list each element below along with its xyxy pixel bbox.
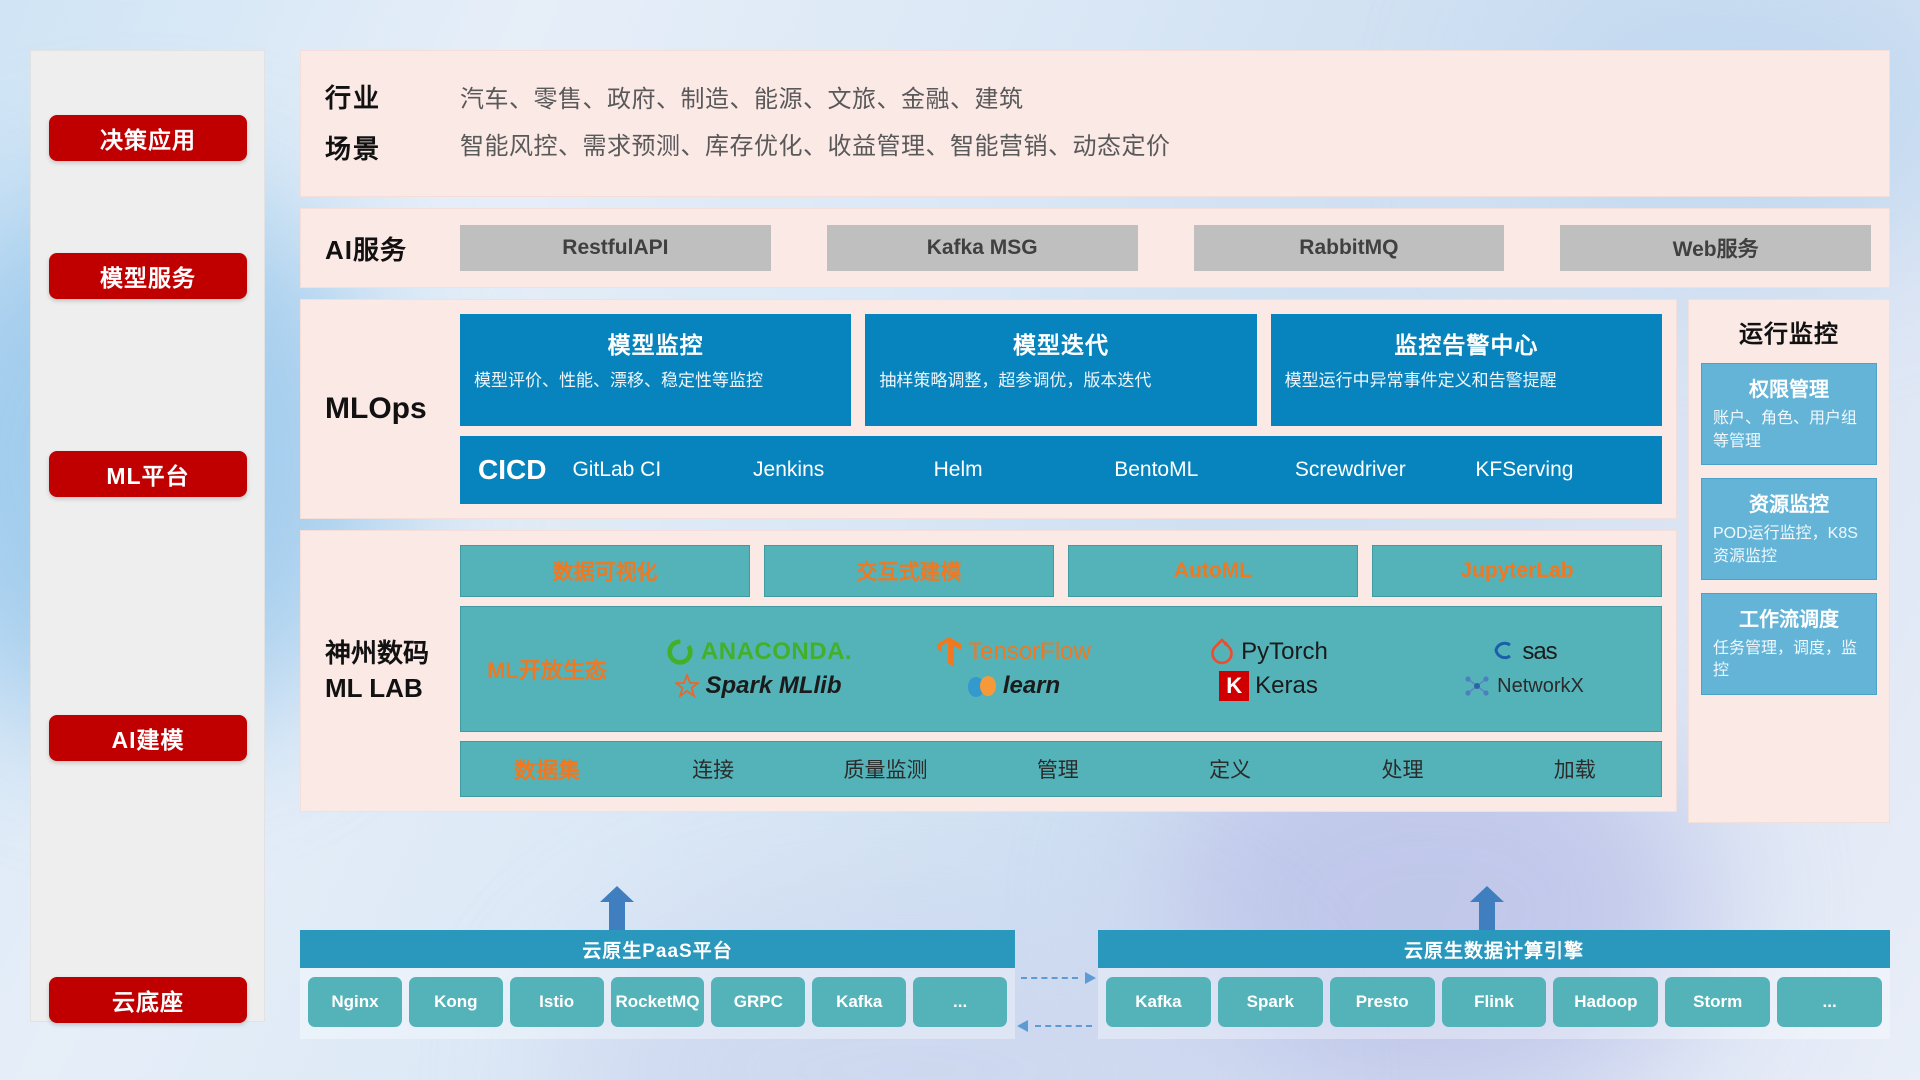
ai-service-label: AI服务	[325, 230, 460, 267]
cloud-data-engine-title: 云原生数据计算引擎	[1098, 930, 1890, 968]
sas-logo: sas	[1490, 638, 1556, 666]
monitoring-card-workflow[interactable]: 工作流调度 任务管理，调度，监控	[1701, 593, 1877, 695]
keras-icon: K	[1219, 671, 1249, 701]
cloud-chip-istio[interactable]: Istio	[510, 977, 604, 1027]
mlops-card-model-iteration[interactable]: 模型迭代 抽样策略调整，超参调优，版本迭代	[865, 314, 1256, 426]
cloud-chip-presto[interactable]: Presto	[1330, 977, 1435, 1027]
mlops-card-title: 模型监控	[474, 326, 837, 360]
ai-service-chip-restfulapi[interactable]: RestfulAPI	[460, 225, 771, 271]
dataset-items: 连接 质量监测 管理 定义 处理 加载	[627, 754, 1661, 784]
cloud-chip-grpc[interactable]: GRPC	[711, 977, 805, 1027]
cloud-chip-flink[interactable]: Flink	[1442, 977, 1547, 1027]
spark-star-icon	[675, 674, 699, 698]
mlops-band: MLOps 模型监控 模型评价、性能、漂移、稳定性等监控 模型迭代 抽样策略调整…	[300, 299, 1677, 519]
anaconda-icon	[665, 637, 695, 667]
dashed-arrow-right-head	[1085, 972, 1096, 984]
ai-service-items: RestfulAPI Kafka MSG RabbitMQ Web服务	[460, 225, 1871, 271]
mlops-card-alert-center[interactable]: 监控告警中心 模型运行中异常事件定义和告警提醒	[1271, 314, 1662, 426]
rail-item-label: 决策应用	[100, 121, 196, 155]
rail-item-cloud-base[interactable]: 云底座	[49, 977, 247, 1023]
dataset-bar: 数据集 连接 质量监测 管理 定义 处理 加载	[460, 741, 1662, 797]
ml-ecosystem-panel: ML开放生态 ANACONDA.	[460, 606, 1662, 732]
cicd-item-screwdriver[interactable]: Screwdriver	[1295, 459, 1476, 481]
networkx-logo: NetworkX	[1463, 673, 1584, 699]
scikit-learn-logo: learn	[967, 672, 1060, 700]
ai-service-chip-rabbitmq[interactable]: RabbitMQ	[1194, 225, 1505, 271]
ml-lab-label: 神州数码 ML LAB	[325, 636, 460, 706]
industry-value: 汽车、零售、政府、制造、能源、文旅、金融、建筑	[460, 77, 1875, 124]
anaconda-logo: ANACONDA.	[665, 637, 852, 667]
cloud-paas-items: Nginx Kong Istio RocketMQ GRPC Kafka ...	[300, 968, 1015, 1039]
mlops-card-desc: 抽样策略调整，超参调优，版本迭代	[879, 369, 1242, 393]
cloud-data-engine-items: Kafka Spark Presto Flink Hadoop Storm ..…	[1098, 968, 1890, 1039]
arrow-up-icon	[1470, 886, 1504, 930]
cloud-connector	[1015, 930, 1098, 1039]
spark-mllib-label: Spark MLlib	[705, 672, 841, 700]
cloud-chip-nginx[interactable]: Nginx	[308, 977, 402, 1027]
rail-item-decision-app[interactable]: 决策应用	[49, 115, 247, 161]
mlops-label: MLOps	[325, 392, 460, 426]
cloud-chip-kafka[interactable]: Kafka	[1106, 977, 1211, 1027]
spark-mllib-logo: Spark MLlib	[675, 672, 841, 700]
monitoring-panel: 运行监控 权限管理 账户、角色、用户组等管理 资源监控 POD运行监控，K8S资…	[1688, 299, 1890, 823]
pytorch-icon	[1209, 637, 1235, 667]
industry-label: 行业	[325, 73, 460, 124]
cicd-item-jenkins[interactable]: Jenkins	[753, 459, 934, 481]
ml-lab-label-line1: 神州数码	[325, 636, 460, 671]
sas-label: sas	[1522, 638, 1556, 666]
rail-item-label: 模型服务	[100, 259, 196, 293]
cloud-chip-storm[interactable]: Storm	[1665, 977, 1770, 1027]
dataset-item-connect[interactable]: 连接	[627, 754, 799, 784]
scikit-learn-icon	[967, 673, 997, 699]
cloud-paas-panel: 云原生PaaS平台 Nginx Kong Istio RocketMQ GRPC…	[300, 930, 1015, 1039]
dataset-item-manage[interactable]: 管理	[972, 754, 1144, 784]
ai-service-band: AI服务 RestfulAPI Kafka MSG RabbitMQ Web服务	[300, 208, 1890, 288]
cloud-chip-kong[interactable]: Kong	[409, 977, 503, 1027]
mlops-content: 模型监控 模型评价、性能、漂移、稳定性等监控 模型迭代 抽样策略调整，超参调优，…	[460, 314, 1662, 504]
cloud-paas-title: 云原生PaaS平台	[300, 930, 1015, 968]
ai-service-chip-kafka-msg[interactable]: Kafka MSG	[827, 225, 1138, 271]
rail-item-ai-modeling[interactable]: AI建模	[49, 715, 247, 761]
dashed-arrow-left	[1035, 1025, 1092, 1027]
cloud-chip-more[interactable]: ...	[1777, 977, 1882, 1027]
mlops-card-title: 监控告警中心	[1285, 326, 1648, 360]
monitoring-card-desc: 任务管理，调度，监控	[1713, 638, 1865, 683]
monitoring-card-title: 权限管理	[1713, 373, 1865, 402]
mlops-cards: 模型监控 模型评价、性能、漂移、稳定性等监控 模型迭代 抽样策略调整，超参调优，…	[460, 314, 1662, 426]
mlops-card-model-monitoring[interactable]: 模型监控 模型评价、性能、漂移、稳定性等监控	[460, 314, 851, 426]
monitoring-card-title: 工作流调度	[1713, 603, 1865, 632]
rail-item-label: AI建模	[112, 721, 185, 755]
dashed-arrow-left-head	[1017, 1020, 1028, 1032]
main-column: 行业 场景 汽车、零售、政府、制造、能源、文旅、金融、建筑 智能风控、需求预测、…	[300, 50, 1890, 823]
architecture-diagram: 决策应用 模型服务 ML平台 AI建模 云底座 行业 场景 汽车、零售、政府、制…	[0, 0, 1920, 1080]
dataset-item-quality[interactable]: 质量监测	[799, 754, 971, 784]
scenario-value: 智能风控、需求预测、库存优化、收益管理、智能营销、动态定价	[460, 124, 1875, 171]
keras-logo: K Keras	[1219, 671, 1318, 701]
scenario-label: 场景	[325, 124, 460, 175]
cloud-foundation-section: 云原生PaaS平台 Nginx Kong Istio RocketMQ GRPC…	[300, 886, 1890, 1036]
ml-lab-content: 数据可视化 交互式建模 AutoML JupyterLab ML开放生态	[460, 545, 1662, 797]
cloud-chip-more[interactable]: ...	[913, 977, 1007, 1027]
cloud-chip-rocketmq[interactable]: RocketMQ	[611, 977, 705, 1027]
networkx-label: NetworkX	[1497, 675, 1584, 698]
dataset-item-load[interactable]: 加载	[1489, 754, 1661, 784]
monitoring-card-desc: 账户、角色、用户组等管理	[1713, 408, 1865, 453]
cicd-item-bentoml[interactable]: BentoML	[1114, 459, 1295, 481]
platform-section: MLOps 模型监控 模型评价、性能、漂移、稳定性等监控 模型迭代 抽样策略调整…	[300, 299, 1890, 823]
cicd-item-kfserving[interactable]: KFServing	[1475, 459, 1656, 481]
tab-interactive-modeling[interactable]: 交互式建模	[764, 545, 1054, 597]
tensorflow-label: TensorFlow	[968, 638, 1091, 666]
sas-icon	[1490, 639, 1516, 665]
cloud-chip-hadoop[interactable]: Hadoop	[1553, 977, 1658, 1027]
tensorflow-logo: TensorFlow	[936, 636, 1091, 668]
ml-ecosystem-label: ML开放生态	[467, 653, 627, 685]
cloud-chip-kafka[interactable]: Kafka	[812, 977, 906, 1027]
ml-lab-label-line2: ML LAB	[325, 671, 460, 706]
rail-item-model-service[interactable]: 模型服务	[49, 253, 247, 299]
keras-label: Keras	[1255, 672, 1318, 700]
anaconda-label: ANACONDA.	[701, 638, 852, 666]
rail-item-label: ML平台	[106, 457, 189, 491]
cloud-row: 云原生PaaS平台 Nginx Kong Istio RocketMQ GRPC…	[300, 930, 1890, 1039]
ml-lab-band: 神州数码 ML LAB 数据可视化 交互式建模 AutoML JupyterLa…	[300, 530, 1677, 812]
ml-lab-tabs: 数据可视化 交互式建模 AutoML JupyterLab	[460, 545, 1662, 597]
scikit-learn-label: learn	[1003, 672, 1060, 700]
mlops-card-desc: 模型运行中异常事件定义和告警提醒	[1285, 369, 1648, 393]
mlops-card-title: 模型迭代	[879, 326, 1242, 360]
decision-application-band: 行业 场景 汽车、零售、政府、制造、能源、文旅、金融、建筑 智能风控、需求预测、…	[300, 50, 1890, 197]
dataset-item-define[interactable]: 定义	[1144, 754, 1316, 784]
tab-jupyterlab[interactable]: JupyterLab	[1372, 545, 1662, 597]
cicd-title: CICD	[478, 454, 546, 486]
monitoring-panel-wrap: 运行监控 权限管理 账户、角色、用户组等管理 资源监控 POD运行监控，K8S资…	[1688, 299, 1890, 823]
mlops-card-desc: 模型评价、性能、漂移、稳定性等监控	[474, 369, 837, 393]
dataset-title: 数据集	[467, 753, 627, 785]
tab-automl[interactable]: AutoML	[1068, 545, 1358, 597]
dashed-arrow-right	[1021, 977, 1078, 979]
cloud-data-engine-panel: 云原生数据计算引擎 Kafka Spark Presto Flink Hadoo…	[1098, 930, 1890, 1039]
rail-item-label: 云底座	[112, 983, 184, 1017]
ai-service-chip-web-service[interactable]: Web服务	[1560, 225, 1871, 271]
dataset-item-process[interactable]: 处理	[1316, 754, 1488, 784]
cloud-chip-spark[interactable]: Spark	[1218, 977, 1323, 1027]
rail-item-ml-platform[interactable]: ML平台	[49, 451, 247, 497]
cicd-item-gitlab-ci[interactable]: GitLab CI	[572, 459, 753, 481]
tensorflow-icon	[936, 636, 962, 668]
decision-row-values: 汽车、零售、政府、制造、能源、文旅、金融、建筑 智能风控、需求预测、库存优化、收…	[460, 77, 1875, 171]
cicd-items: GitLab CI Jenkins Helm BentoML Screwdriv…	[572, 459, 1656, 481]
layer-rail: 决策应用 模型服务 ML平台 AI建模 云底座	[30, 50, 265, 1022]
pytorch-logo: PyTorch	[1209, 637, 1328, 667]
cicd-item-helm[interactable]: Helm	[934, 459, 1115, 481]
decision-row-labels: 行业 场景	[325, 73, 460, 174]
monitoring-title: 运行监控	[1701, 314, 1877, 349]
monitoring-card-resource[interactable]: 资源监控 POD运行监控，K8S资源监控	[1701, 478, 1877, 580]
monitoring-card-permission[interactable]: 权限管理 账户、角色、用户组等管理	[1701, 363, 1877, 465]
pytorch-label: PyTorch	[1241, 638, 1328, 666]
ml-ecosystem-logos: ANACONDA. TensorFlow	[631, 636, 1651, 702]
networkx-icon	[1463, 673, 1491, 699]
cicd-bar: CICD GitLab CI Jenkins Helm BentoML Scre…	[460, 436, 1662, 504]
arrow-up-icon	[600, 886, 634, 930]
monitoring-card-title: 资源监控	[1713, 488, 1865, 517]
tab-data-visualization[interactable]: 数据可视化	[460, 545, 750, 597]
platform-left: MLOps 模型监控 模型评价、性能、漂移、稳定性等监控 模型迭代 抽样策略调整…	[300, 299, 1677, 823]
monitoring-card-desc: POD运行监控，K8S资源监控	[1713, 523, 1865, 568]
